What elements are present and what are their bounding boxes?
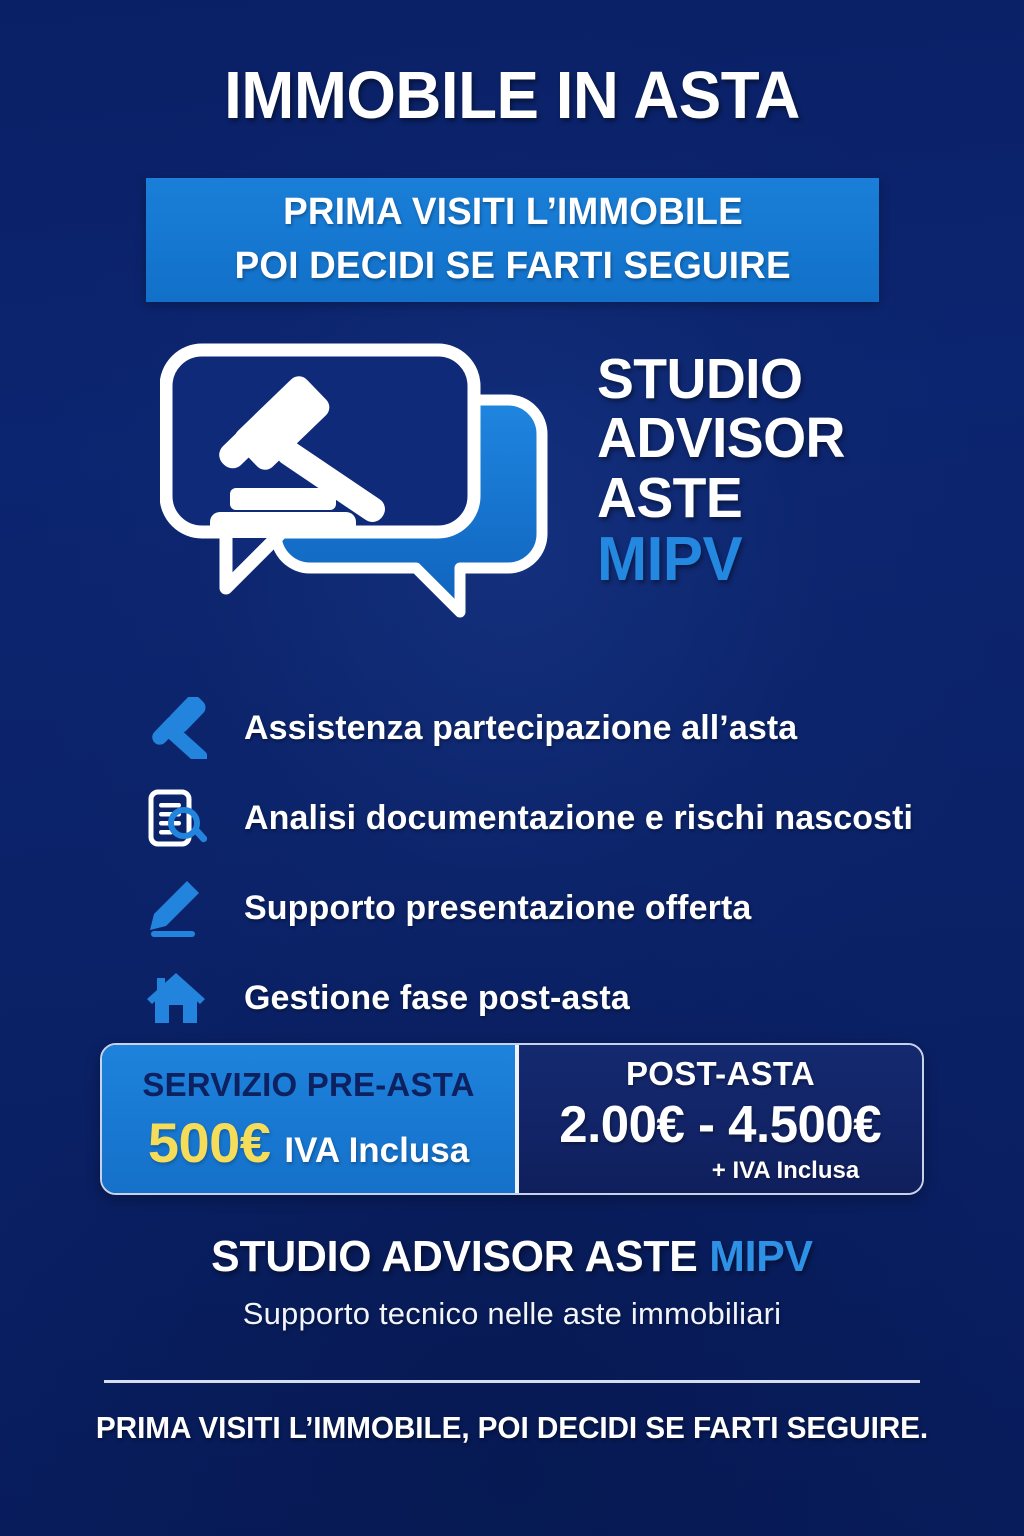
feature-item: Supporto presentazione offerta: [140, 863, 970, 953]
footer-divider: [104, 1380, 920, 1383]
pricing-panel: SERVIZIO PRE-ASTA 500€ IVA Inclusa POST-…: [100, 1043, 924, 1195]
feature-label: Supporto presentazione offerta: [244, 889, 751, 928]
pre-asta-note: IVA Inclusa: [284, 1131, 469, 1171]
feature-label: Gestione fase post-asta: [244, 979, 630, 1018]
logo-line-aste: ASTE: [597, 469, 985, 528]
post-asta-title: POST-ASTA: [626, 1055, 815, 1093]
pricing-pre-asta: SERVIZIO PRE-ASTA 500€ IVA Inclusa: [102, 1045, 515, 1193]
banner-line-1: PRIMA VISITI L’IMMOBILE: [283, 186, 743, 240]
home-icon: [140, 962, 212, 1034]
post-asta-note: + IVA Inclusa: [712, 1157, 859, 1185]
pen-signature-icon: [140, 872, 212, 944]
feature-item: Assistenza partecipazione all’asta: [140, 683, 970, 773]
pre-asta-amount: 500€: [148, 1110, 271, 1175]
footer-brand-accent: MIPV: [709, 1232, 813, 1281]
feature-item: Gestione fase post-asta: [140, 953, 970, 1043]
banner-line-2: POI DECIDI SE FARTI SEGUIRE: [234, 240, 790, 294]
pre-asta-amount-row: 500€ IVA Inclusa: [148, 1110, 469, 1175]
post-asta-amount: 2.00€ - 4.500€: [560, 1095, 882, 1155]
pricing-post-asta: POST-ASTA 2.00€ - 4.500€ + IVA Inclusa: [519, 1045, 922, 1193]
subheadline-banner: PRIMA VISITI L’IMMOBILE POI DECIDI SE FA…: [146, 178, 879, 302]
footer-brand-main: STUDIO ADVISOR ASTE: [211, 1232, 709, 1281]
poster-root: IMMOBILE IN ASTA PRIMA VISITI L’IMMOBILE…: [0, 0, 1024, 1536]
footer-subtitle: Supporto tecnico nelle aste immobiliari: [0, 1296, 1024, 1332]
logo-wordmark: STUDIO ADVISOR ASTE MIPV: [597, 350, 997, 592]
logo-line-mipv: MIPV: [597, 528, 985, 592]
pre-asta-title: SERVIZIO PRE-ASTA: [142, 1066, 474, 1104]
footer-tagline: PRIMA VISITI L’IMMOBILE, POI DECIDI SE F…: [20, 1410, 1003, 1446]
document-search-icon: [140, 782, 212, 854]
logo-line-advisor: ADVISOR: [597, 409, 985, 468]
gavel-icon: [140, 692, 212, 764]
page-title: IMMOBILE IN ASTA: [26, 62, 999, 129]
footer-brand: STUDIO ADVISOR ASTE MIPV: [15, 1232, 1008, 1282]
feature-list: Assistenza partecipazione all’asta Anali…: [140, 683, 970, 1043]
speech-bubble-gavel-logo: [160, 338, 580, 638]
logo-line-studio: STUDIO: [597, 350, 985, 409]
logo-block: STUDIO ADVISOR ASTE MIPV: [0, 338, 1024, 648]
feature-label: Analisi documentazione e rischi nascosti: [244, 799, 913, 838]
feature-label: Assistenza partecipazione all’asta: [244, 709, 797, 748]
feature-item: Analisi documentazione e rischi nascosti: [140, 773, 970, 863]
